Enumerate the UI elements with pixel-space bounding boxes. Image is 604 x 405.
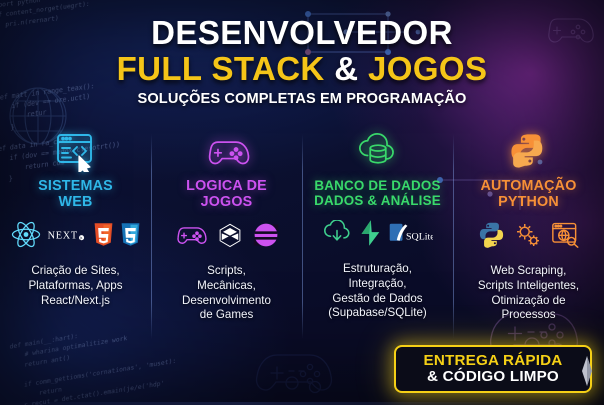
badge-line-1: ENTREGA RÁPIDA: [424, 353, 563, 369]
svg-text:js: js: [78, 236, 82, 240]
column-banco-de-dados[interactable]: BANCO DE DADOS DADOS & ANÁLISE: [302, 128, 453, 343]
gamepad-icon: [174, 223, 207, 252]
css3-icon: [120, 222, 141, 252]
title-line-2-part-b: JOGOS: [358, 50, 487, 87]
delivery-badge[interactable]: ENTREGA RÁPIDA & CÓDIGO LIMPO: [394, 345, 592, 393]
poster-header: DESENVOLVEDOR FULL STACK & JOGOS SOLUÇÕE…: [0, 16, 604, 107]
unity-icon: [216, 221, 244, 254]
column-logos: [174, 216, 279, 258]
svg-text:NEXT: NEXT: [47, 230, 77, 241]
unreal-engine-icon: [253, 222, 279, 253]
title-ampersand: &: [334, 50, 358, 87]
title-line-1: DESENVOLVEDOR: [0, 16, 604, 49]
react-icon: [11, 221, 41, 253]
column-logos: [478, 216, 580, 258]
svg-text:HTML: HTML: [97, 222, 106, 223]
subtitle: SOLUÇÕES COMPLETAS EM PROGRAMAÇÃO: [0, 91, 604, 107]
html5-icon: HTML: [93, 222, 114, 252]
title-line-2: FULL STACK & JOGOS: [0, 52, 604, 85]
column-title: BANCO DE DADOS DADOS & ANÁLISE: [314, 178, 441, 208]
supabase-bolt-icon: [359, 219, 381, 252]
column-description: Web Scraping, Scripts Inteligentes, Otim…: [478, 264, 579, 323]
column-title: LOGICA DE JOGOS: [186, 178, 267, 210]
sqlite-icon: SQLite: [389, 220, 433, 251]
column-title: SISTEMAS WEB: [38, 178, 113, 210]
sparkle-icon: [574, 356, 600, 391]
service-columns: SISTEMAS WEB NEXT js: [0, 128, 604, 343]
column-logos: NEXT js HTML: [11, 216, 141, 258]
column-description: Scripts, Mecânicas, Desenvolvimento de G…: [182, 264, 271, 323]
svg-text:SQLite: SQLite: [406, 231, 433, 242]
badge-line-2: & CÓDIGO LIMPO: [427, 369, 559, 385]
gears-icon: [514, 222, 542, 253]
column-automacao-python[interactable]: AUTOMAÇÃO PYTHON: [453, 128, 604, 343]
cloud-download-icon: [323, 220, 351, 251]
column-description: Estruturação, Integração, Gestão de Dado…: [328, 262, 427, 321]
browser-globe-search-icon: [551, 221, 580, 253]
column-title: AUTOMAÇÃO PYTHON: [480, 178, 576, 210]
gamepad-wireframe-icon: [252, 344, 336, 405]
python-icon: [478, 221, 505, 253]
cloud-database-icon: [355, 128, 401, 176]
title-line-2-part-a: FULL STACK: [117, 50, 335, 87]
gamepad-icon: [204, 128, 250, 176]
column-description: Criação de Sites, Plataformas, Apps Reac…: [28, 264, 122, 308]
nextjs-icon: NEXT js: [47, 226, 87, 249]
column-sistemas-web[interactable]: SISTEMAS WEB NEXT js: [0, 128, 151, 343]
column-logos: SQLite: [323, 214, 433, 256]
column-logica-de-jogos[interactable]: LOGICA DE JOGOS: [151, 128, 302, 343]
code-window-cursor-icon: [55, 128, 97, 176]
poster-canvas: import python def content_norget(uegrt):…: [0, 0, 604, 405]
python-icon: [510, 128, 548, 176]
